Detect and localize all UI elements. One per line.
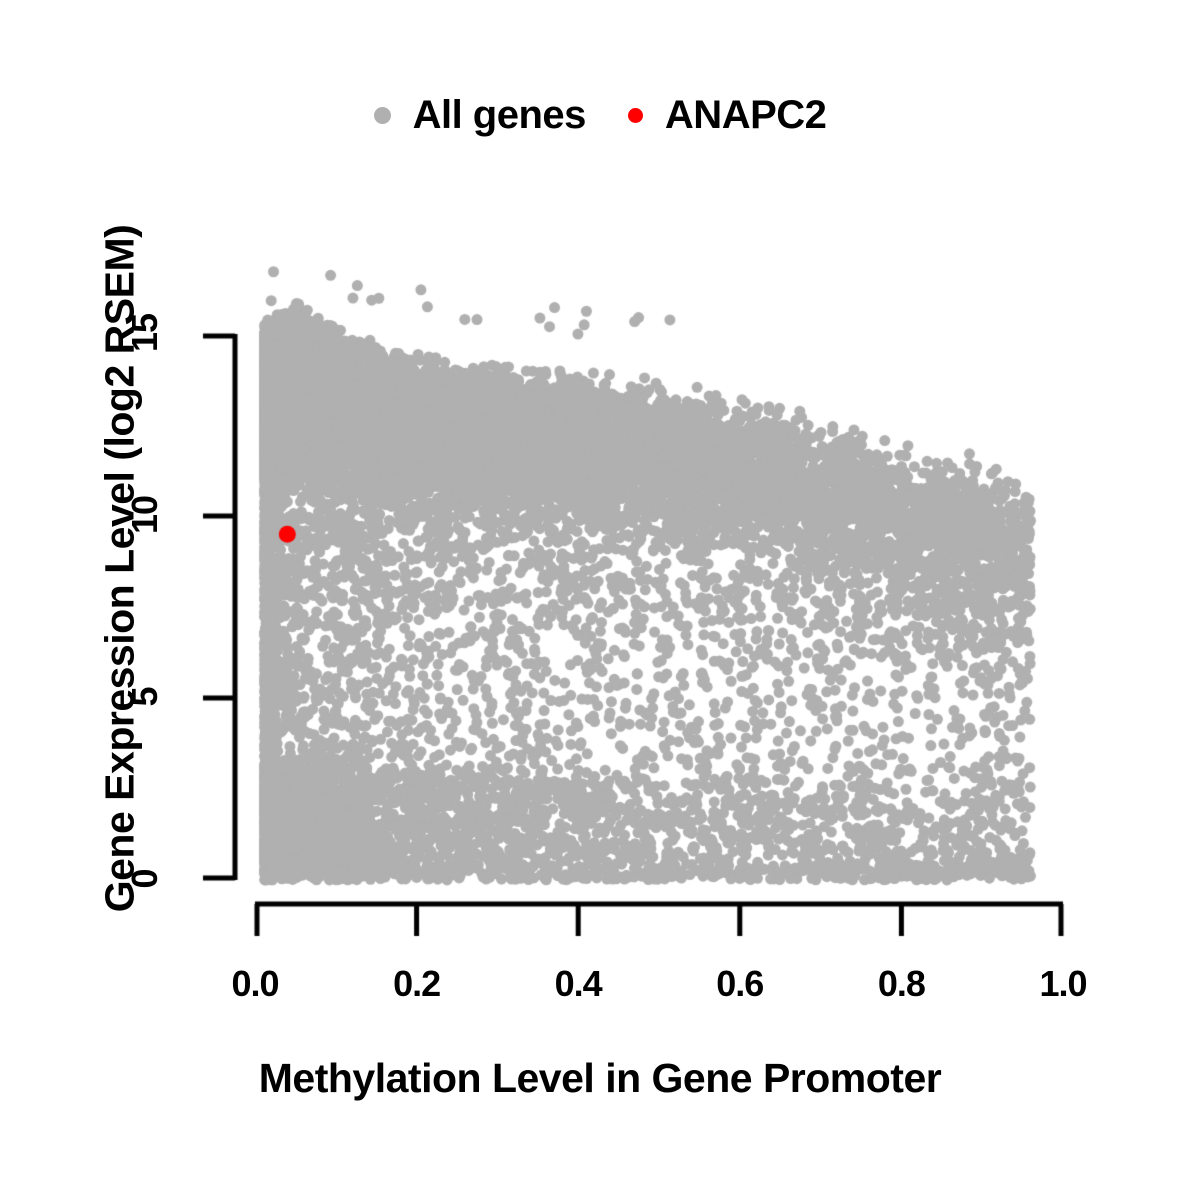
x-tick-label: 0.6 <box>680 963 800 1005</box>
x-tick-label: 1.0 <box>1003 963 1123 1005</box>
y-tick-label: 15 <box>124 288 166 378</box>
x-axis-title: Methylation Level in Gene Promoter <box>0 1055 1200 1102</box>
scatter-plot-figure: All genes ANAPC2 Methylation Level in Ge… <box>0 0 1200 1200</box>
x-tick-label: 0.8 <box>841 963 961 1005</box>
x-tick-label: 0.0 <box>195 963 315 1005</box>
y-tick-label: 5 <box>124 652 166 742</box>
y-tick-label: 10 <box>124 470 166 560</box>
x-tick-label: 0.2 <box>357 963 477 1005</box>
scatter-plot-canvas <box>0 0 1200 1200</box>
y-tick-label: 0 <box>124 834 166 924</box>
x-tick-label: 0.4 <box>518 963 638 1005</box>
